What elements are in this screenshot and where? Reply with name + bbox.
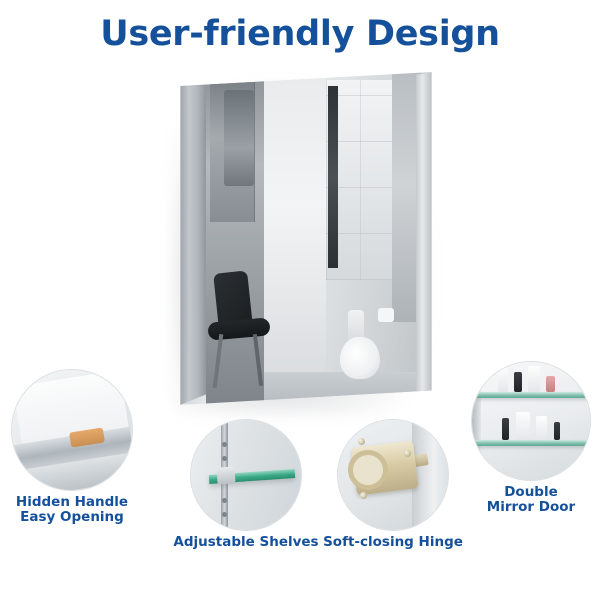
feature-hidden-handle: Hidden Handle Easy Opening	[2, 370, 142, 525]
cabinet-side-panel	[412, 420, 448, 530]
bottle	[498, 368, 508, 392]
adjustable-shelf-closeup-icon	[191, 420, 301, 530]
feature-label-adjustable-shelves: Adjustable Shelves	[166, 535, 326, 550]
bottle	[528, 366, 540, 392]
product-feature-graphic: User-friendly Design	[0, 0, 600, 600]
feature-label-double-mirror-door: Double Mirror Door	[462, 485, 600, 515]
page-title: User-friendly Design	[0, 14, 600, 54]
hinge-screw	[358, 438, 365, 445]
shelf-peg-hole	[222, 442, 227, 447]
feature-label-soft-closing-hinge: Soft-closing Hinge	[318, 535, 468, 550]
pump-bottle	[516, 412, 530, 440]
feature-label-hidden-handle: Hidden Handle Easy Opening	[2, 495, 142, 525]
shelf-peg-hole	[222, 512, 227, 517]
hinge-screw	[360, 492, 367, 499]
soft-closing-hinge-closeup-icon	[338, 420, 448, 530]
cosmetic-tube	[502, 418, 509, 440]
glass-shelf	[476, 440, 588, 446]
bottle	[536, 416, 547, 440]
hinge-screw	[404, 450, 411, 457]
cosmetic-tube	[554, 422, 560, 440]
shelf-clip	[216, 466, 235, 484]
feature-double-mirror-door: Double Mirror Door	[462, 362, 600, 515]
shelf-peg-hole	[222, 456, 227, 461]
cosmetic-tube	[514, 372, 522, 392]
mirror-edge-highlight	[180, 72, 432, 405]
cosmetic-jar	[546, 376, 555, 392]
feature-soft-closing-hinge: Soft-closing Hinge	[318, 420, 468, 550]
hidden-handle-closeup-icon	[12, 370, 132, 490]
mirror-door-edge	[472, 362, 481, 480]
hero-product-image	[180, 72, 432, 405]
feature-adjustable-shelves: Adjustable Shelves	[166, 420, 326, 550]
double-mirror-door-closeup-icon	[472, 362, 590, 480]
shelf-peg-hole	[222, 498, 227, 503]
glass-shelf	[476, 392, 588, 398]
